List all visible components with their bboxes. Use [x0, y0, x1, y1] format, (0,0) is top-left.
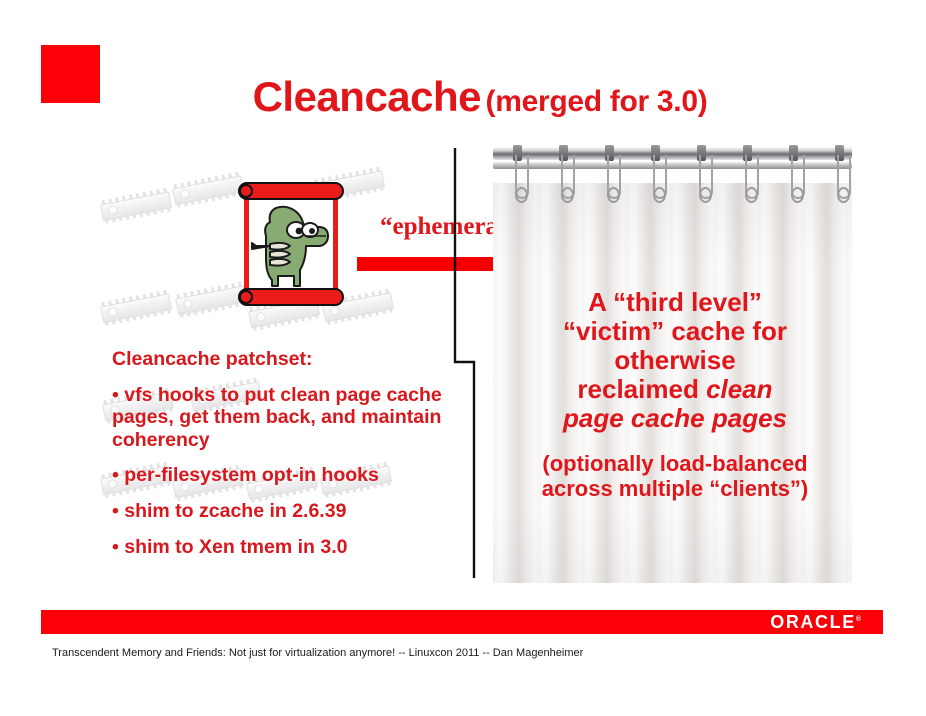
victim-cache-paragraph: A “third level” “victim” cache for other…	[520, 288, 830, 434]
title-sub-text: (merged for 3.0)	[486, 85, 708, 118]
victim-cache-description: A “third level” “victim” cache for other…	[520, 288, 830, 501]
curtain-ring	[745, 187, 758, 203]
curtain-ring	[561, 187, 574, 203]
cleancache-patchset-list: Cleancache patchset: • vfs hooks to put …	[112, 348, 452, 571]
victim-line-4: reclaimed	[577, 374, 706, 404]
victim-line-3: otherwise	[614, 345, 735, 375]
patchset-bullet-4: • shim to Xen tmem in 3.0	[112, 536, 452, 559]
crocodile-mascot-icon	[250, 196, 332, 292]
curtain-ring	[837, 187, 850, 203]
curtain-ring	[791, 187, 804, 203]
slide-canvas: Cleancache (merged for 3.0)	[0, 0, 926, 716]
title-main-text: Cleancache	[253, 73, 481, 120]
victim-line-5-italic: page cache pages	[563, 403, 787, 433]
section-divider-line	[448, 148, 484, 578]
curtain-ring	[653, 187, 666, 203]
load-balance-note: (optionally load-balanced across multipl…	[520, 451, 830, 502]
victim-line-2: “victim” cache for	[563, 316, 787, 346]
patchset-bullet-2: • per-filesystem opt-in hooks	[112, 464, 452, 487]
patchset-bullet-1: • vfs hooks to put clean page cache page…	[112, 384, 452, 452]
footer-brand-bar: ORACLE®	[41, 610, 883, 634]
patchset-heading: Cleancache patchset:	[112, 348, 452, 371]
page-title: Cleancache (merged for 3.0)	[130, 73, 830, 121]
victim-line-4-italic: clean	[706, 374, 773, 404]
patch-scroll-icon	[236, 182, 346, 306]
curtain-ring	[699, 187, 712, 203]
oracle-logo: ORACLE®	[770, 612, 861, 633]
memory-chip-icon	[93, 289, 176, 328]
oracle-logo-trademark: ®	[856, 616, 861, 623]
footer-note: Transcendent Memory and Friends: Not jus…	[52, 647, 583, 659]
curtain-ring	[607, 187, 620, 203]
patchset-bullet-3: • shim to zcache in 2.6.39	[112, 500, 452, 523]
memory-chip-icon	[93, 187, 176, 226]
victim-line-1: A “third level”	[588, 287, 762, 317]
oracle-logo-text: ORACLE	[770, 612, 856, 632]
curtain-ring	[515, 187, 528, 203]
red-accent-square	[41, 45, 100, 103]
